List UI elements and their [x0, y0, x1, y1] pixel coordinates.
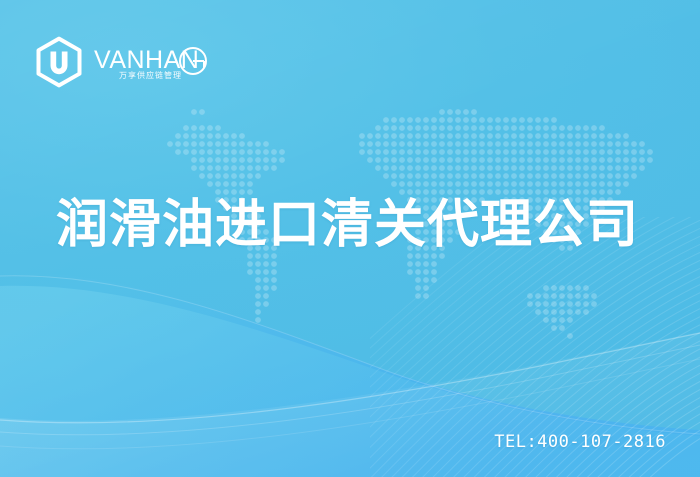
contact-phone[interactable]: TEL:400-107-2816: [494, 432, 666, 452]
page-title: 润滑油进口清关代理公司: [56, 196, 656, 254]
hexagon-u-logo-icon: [33, 36, 85, 88]
promo-banner: VANHAN 万享供应链管理 润滑油进口清关代理公司 TEL:400-107-2…: [0, 0, 700, 477]
svg-text:万享供应链管理: 万享供应链管理: [119, 70, 182, 80]
brand-wordmark: VANHAN 万享供应链管理: [94, 42, 212, 82]
brand-logo[interactable]: VANHAN 万享供应链管理: [33, 36, 212, 88]
